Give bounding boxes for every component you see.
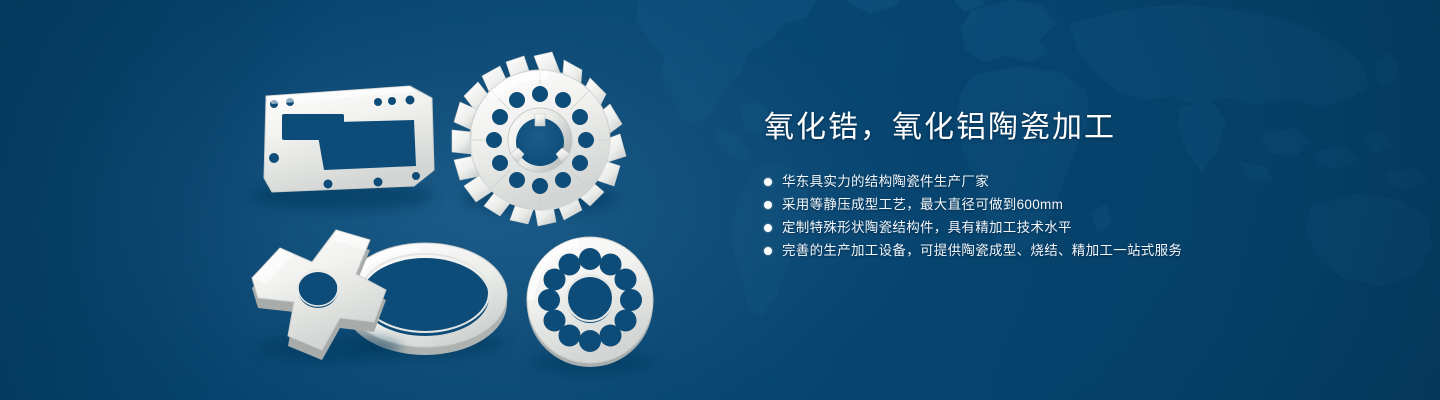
list-item: 华东具实力的结构陶瓷件生产厂家 (764, 170, 1384, 193)
list-item-label: 采用等静压成型工艺，最大直径可做到600mm (782, 193, 1063, 216)
list-item: 采用等静压成型工艺，最大直径可做到600mm (764, 193, 1384, 216)
page-title: 氧化锆，氧化铝陶瓷加工 (764, 108, 1384, 148)
ceramic-flat-plate (250, 86, 434, 210)
bullet-dot-icon (764, 224, 772, 232)
ceramic-impeller-disc (452, 52, 626, 226)
promo-banner: 氧化锆，氧化铝陶瓷加工 华东具实力的结构陶瓷件生产厂家 采用等静压成型工艺，最大… (0, 0, 1440, 400)
ceramic-cross-vane (252, 230, 402, 362)
bullet-dot-icon (764, 201, 772, 209)
bullet-dot-icon (764, 178, 772, 186)
bullet-dot-icon (764, 247, 772, 255)
list-item-label: 华东具实力的结构陶瓷件生产厂家 (782, 170, 989, 193)
feature-list: 华东具实力的结构陶瓷件生产厂家 采用等静压成型工艺，最大直径可做到600mm 定… (764, 170, 1384, 262)
list-item-label: 完善的生产加工设备，可提供陶瓷成型、烧结、精加工一站式服务 (782, 239, 1182, 262)
list-item-label: 定制特殊形状陶瓷结构件，具有精加工技术水平 (782, 216, 1072, 239)
ceramic-perforated-disc (527, 237, 654, 374)
list-item: 完善的生产加工设备，可提供陶瓷成型、烧结、精加工一站式服务 (764, 239, 1384, 262)
ceramic-products-collage (0, 0, 720, 400)
banner-copy: 氧化锆，氧化铝陶瓷加工 华东具实力的结构陶瓷件生产厂家 采用等静压成型工艺，最大… (764, 108, 1384, 262)
list-item: 定制特殊形状陶瓷结构件，具有精加工技术水平 (764, 216, 1384, 239)
